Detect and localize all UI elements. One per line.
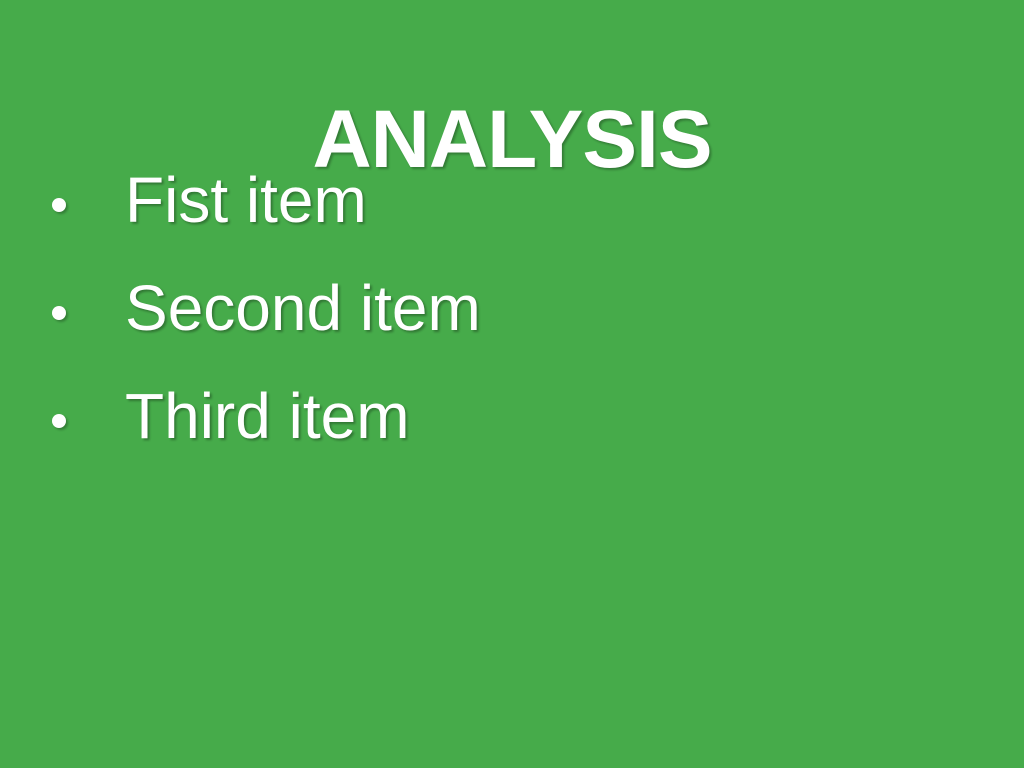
list-item-label: Second item: [125, 276, 481, 340]
presentation-slide: ANALYSIS Fist item Second item Third ite…: [0, 0, 1024, 768]
list-item[interactable]: Second item: [52, 276, 972, 384]
bullet-list: Fist item Second item Third item: [52, 168, 972, 492]
list-item[interactable]: Third item: [52, 384, 972, 492]
bullet-dot-icon: [52, 414, 66, 428]
bullet-dot-icon: [52, 198, 66, 212]
list-item-label: Third item: [125, 384, 410, 448]
bullet-dot-icon: [52, 306, 66, 320]
list-item-label: Fist item: [125, 168, 367, 232]
list-item[interactable]: Fist item: [52, 168, 972, 276]
